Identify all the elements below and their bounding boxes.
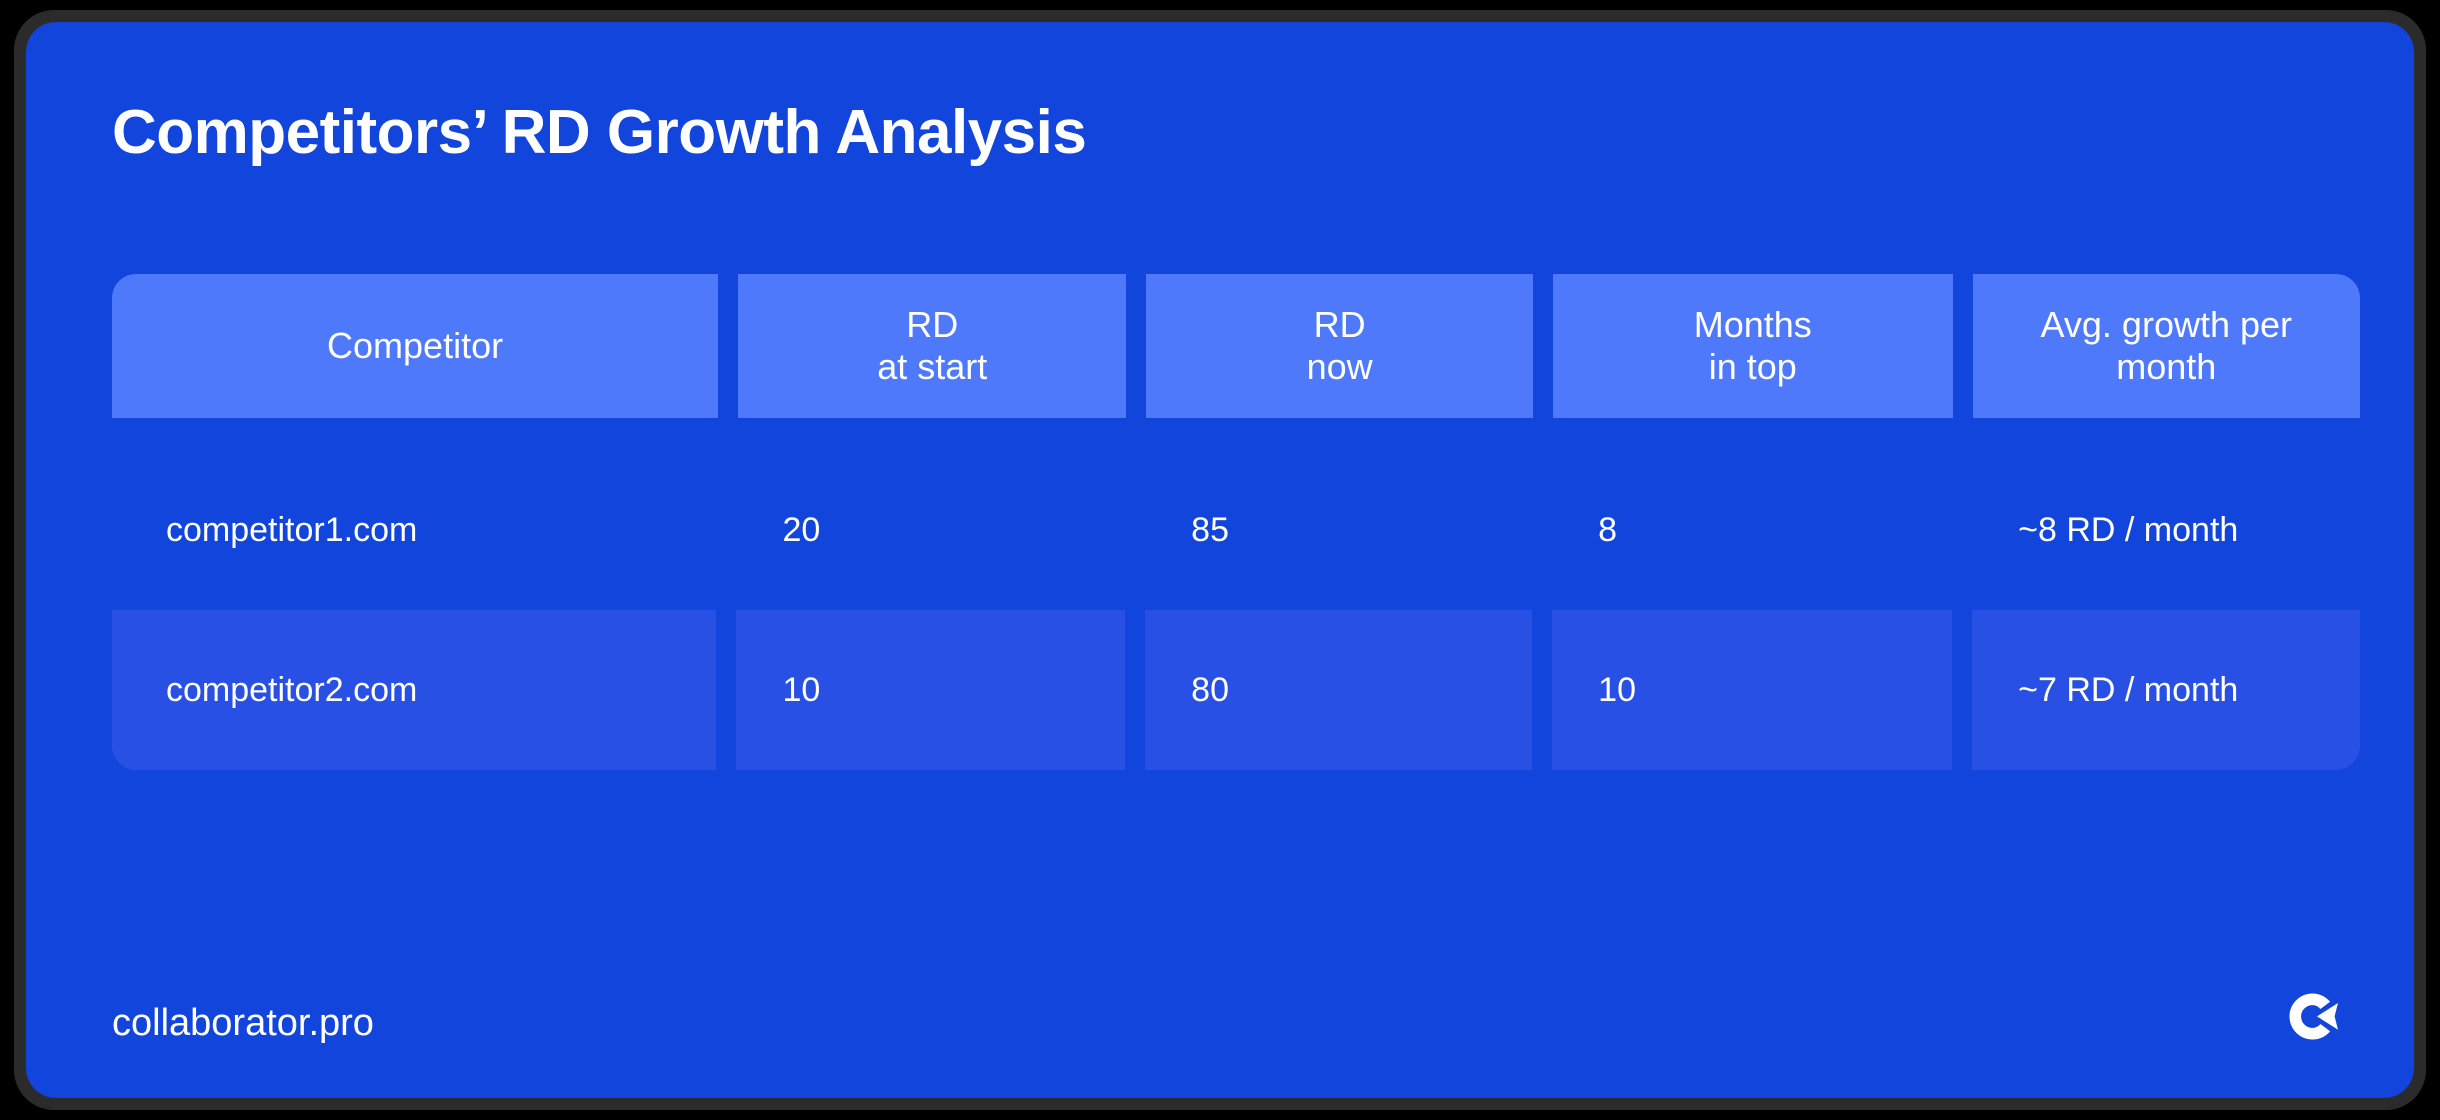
cell-rd-now: 85 — [1145, 450, 1532, 610]
analysis-card: Competitors’ RD Growth Analysis Competit… — [26, 22, 2414, 1098]
cell-rd-at-start: 20 — [736, 450, 1125, 610]
header-body-spacer — [112, 418, 2360, 450]
cell-avg-growth-per-month: ~7 RD / month — [1972, 610, 2360, 770]
brand-name: collaborator.pro — [112, 1004, 374, 1042]
column-header-rd-at-start: RD at start — [738, 274, 1126, 418]
cell-competitor: competitor2.com — [112, 610, 716, 770]
collaborator-c-arrow-logo-icon — [2284, 988, 2342, 1046]
cell-months-in-top: 8 — [1552, 450, 1952, 610]
cell-avg-growth-per-month: ~8 RD / month — [1972, 450, 2360, 610]
competitors-table: Competitor RD at start RD now Months in … — [112, 274, 2360, 770]
screenshot-stage: Competitors’ RD Growth Analysis Competit… — [0, 0, 2440, 1120]
table-row: competitor1.com 20 85 8 ~8 RD / month — [112, 450, 2360, 610]
cell-competitor: competitor1.com — [112, 450, 716, 610]
cell-rd-at-start: 10 — [736, 610, 1125, 770]
card-outer-frame: Competitors’ RD Growth Analysis Competit… — [14, 10, 2426, 1110]
table-header-row: Competitor RD at start RD now Months in … — [112, 274, 2360, 418]
page-title: Competitors’ RD Growth Analysis — [112, 102, 1086, 164]
column-header-rd-now: RD now — [1146, 274, 1533, 418]
column-header-months-in-top: Months in top — [1553, 274, 1953, 418]
column-header-avg-growth-per-month: Avg. growth per month — [1973, 274, 2360, 418]
column-header-competitor: Competitor — [112, 274, 718, 418]
table-row: competitor2.com 10 80 10 ~7 RD / month — [112, 610, 2360, 770]
cell-rd-now: 80 — [1145, 610, 1532, 770]
cell-months-in-top: 10 — [1552, 610, 1952, 770]
